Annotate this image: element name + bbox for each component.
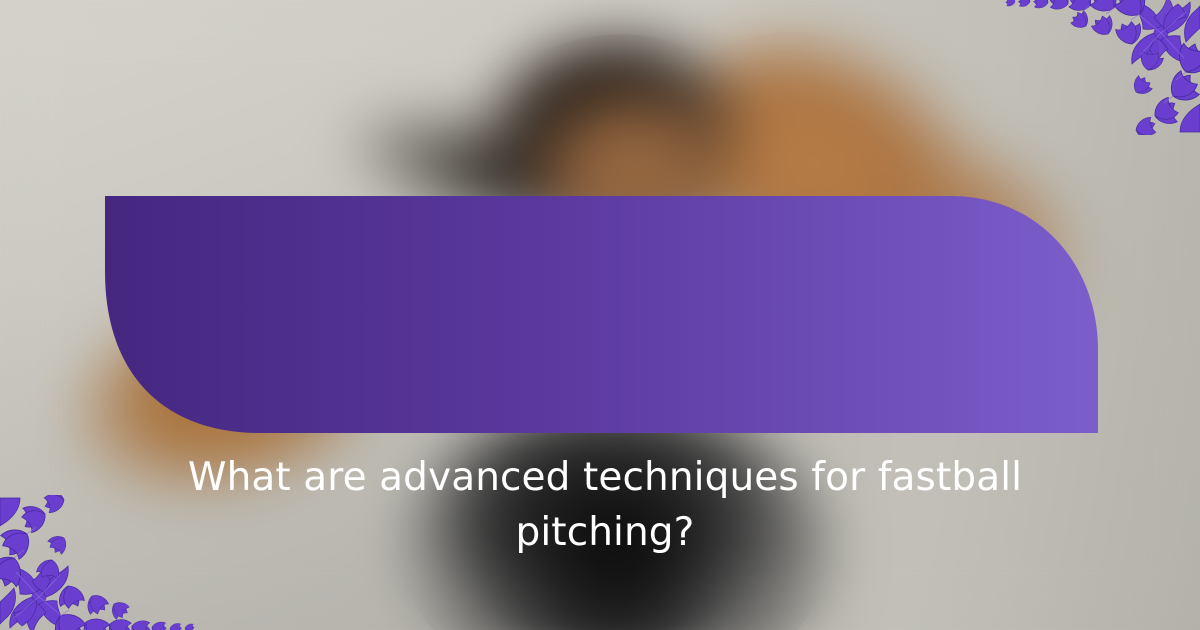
photo-blur-overlay bbox=[0, 0, 1200, 630]
background-photo bbox=[0, 0, 1200, 630]
social-card: What are advanced techniques for fastbal… bbox=[0, 0, 1200, 630]
